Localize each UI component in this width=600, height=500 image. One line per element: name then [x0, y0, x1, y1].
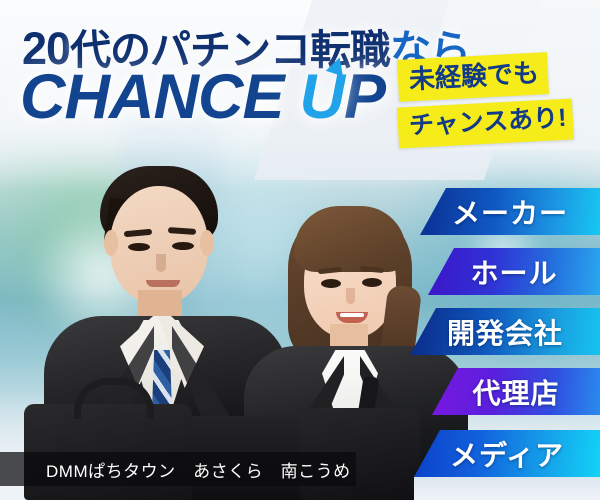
category-bar-maker[interactable]: メーカー — [420, 188, 600, 235]
category-bar-agency[interactable]: 代理店 — [432, 368, 600, 415]
category-bar-list: メーカー ホール 開発会社 代理店 メディア — [0, 0, 600, 500]
bottom-right-light-strip — [414, 477, 600, 500]
advertisement-banner[interactable]: 20代のパチンコ転職なら CHANCEUP 未経験でも チャンスあり! メーカー… — [0, 0, 600, 500]
category-bar-agency-label: 代理店 — [472, 372, 559, 412]
category-bar-media[interactable]: メディア — [414, 430, 600, 477]
category-bar-developer-label: 開発会社 — [447, 312, 563, 352]
category-bar-hall-label: ホール — [470, 252, 557, 292]
category-bar-media-label: メディア — [450, 434, 564, 474]
category-bar-developer[interactable]: 開発会社 — [410, 308, 600, 355]
category-bar-hall[interactable]: ホール — [428, 248, 600, 295]
credit-band: DMMぱちタウン あさくら 南こうめ — [0, 452, 356, 486]
credit-text: DMMぱちタウン あさくら 南こうめ — [0, 457, 351, 482]
category-bar-maker-label: メーカー — [452, 192, 568, 232]
